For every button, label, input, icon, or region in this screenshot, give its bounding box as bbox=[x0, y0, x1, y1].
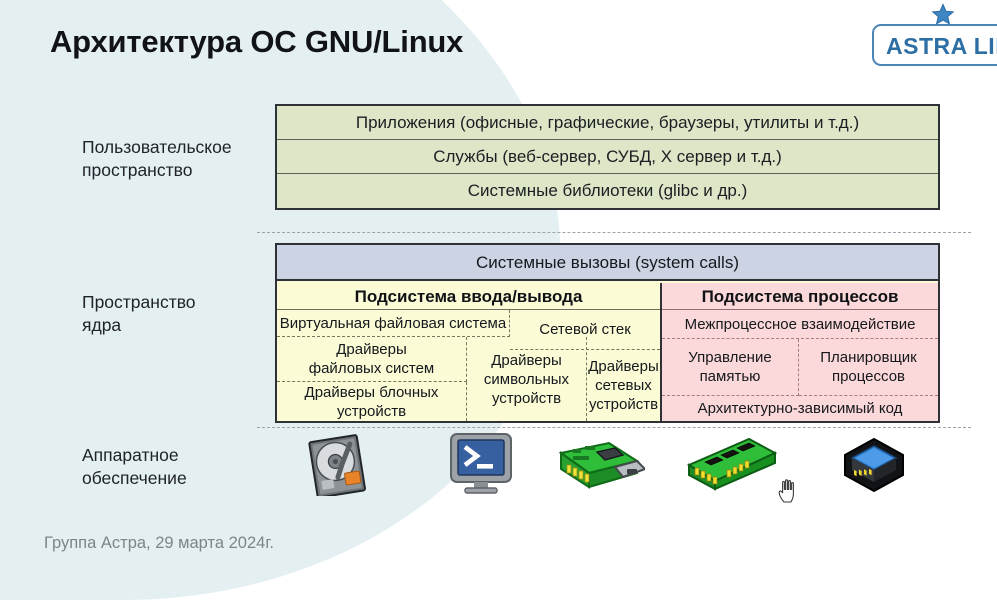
band-label-user-space: Пользовательское пространство bbox=[82, 136, 232, 182]
cell-filesystem-drivers: Драйверы файловых систем bbox=[277, 337, 467, 382]
process-subsystem-grid: Межпроцессное взаимодействие Управление … bbox=[662, 310, 938, 421]
kernel-space-stack: Системные вызовы (system calls) Подсисте… bbox=[275, 243, 940, 423]
user-space-row-libraries: Системные библиотеки (glibc и др.) bbox=[277, 174, 938, 208]
system-calls-bar: Системные вызовы (system calls) bbox=[277, 245, 938, 281]
process-subsystem: Подсистема процессов Межпроцессное взаим… bbox=[662, 283, 938, 421]
memory-module-icon bbox=[683, 437, 779, 495]
cell-network-stack: Сетевой стек bbox=[510, 310, 660, 350]
star-icon bbox=[930, 3, 956, 29]
separator-kernel-hardware bbox=[257, 427, 971, 428]
terminal-icon bbox=[445, 431, 517, 495]
astra-linux-logo: ASTRA LIN bbox=[872, 24, 997, 66]
cell-virtual-file-system: Виртуальная файловая система bbox=[277, 310, 510, 337]
hard-disk-icon bbox=[303, 434, 375, 496]
io-subsystem-title: Подсистема ввода/вывода bbox=[277, 283, 660, 310]
io-subsystem-grid: Виртуальная файловая система Драйверы фа… bbox=[277, 310, 660, 421]
band-label-kernel-space: Пространство ядра bbox=[82, 291, 196, 337]
separator-user-kernel bbox=[257, 232, 971, 233]
cell-memory-management: Управление памятью bbox=[662, 339, 799, 396]
network-card-icon bbox=[553, 439, 645, 495]
io-subsystem: Подсистема ввода/вывода Виртуальная файл… bbox=[277, 283, 662, 421]
kernel-subsystems: Подсистема ввода/вывода Виртуальная файл… bbox=[277, 283, 938, 421]
user-space-row-applications: Приложения (офисные, графические, браузе… bbox=[277, 106, 938, 140]
cell-block-device-drivers: Драйверы блочных устройств bbox=[277, 382, 467, 421]
cell-architecture-dependent-code: Архитектурно-зависимый код bbox=[662, 396, 938, 421]
cpu-chip-icon bbox=[841, 436, 907, 494]
hand-cursor bbox=[777, 478, 799, 504]
process-subsystem-title: Подсистема процессов bbox=[662, 283, 938, 310]
user-space-row-services: Службы (веб-сервер, СУБД, X сервер и т.д… bbox=[277, 140, 938, 174]
cell-process-scheduler: Планировщик процессов bbox=[799, 339, 938, 396]
band-label-hardware: Аппаратное обеспечение bbox=[82, 444, 187, 490]
slide-canvas: Архитектура ОС GNU/Linux ASTRA LIN Польз… bbox=[0, 0, 997, 576]
user-space-stack: Приложения (офисные, графические, браузе… bbox=[275, 104, 940, 210]
page-title: Архитектура ОС GNU/Linux bbox=[50, 24, 463, 60]
logo-text: ASTRA LIN bbox=[886, 33, 997, 60]
slide-footer: Группа Астра, 29 марта 2024г. bbox=[44, 534, 274, 553]
cell-inter-process-communication: Межпроцессное взаимодействие bbox=[662, 310, 938, 339]
cell-network-drivers: Драйверы сетевых устройств bbox=[587, 350, 660, 421]
